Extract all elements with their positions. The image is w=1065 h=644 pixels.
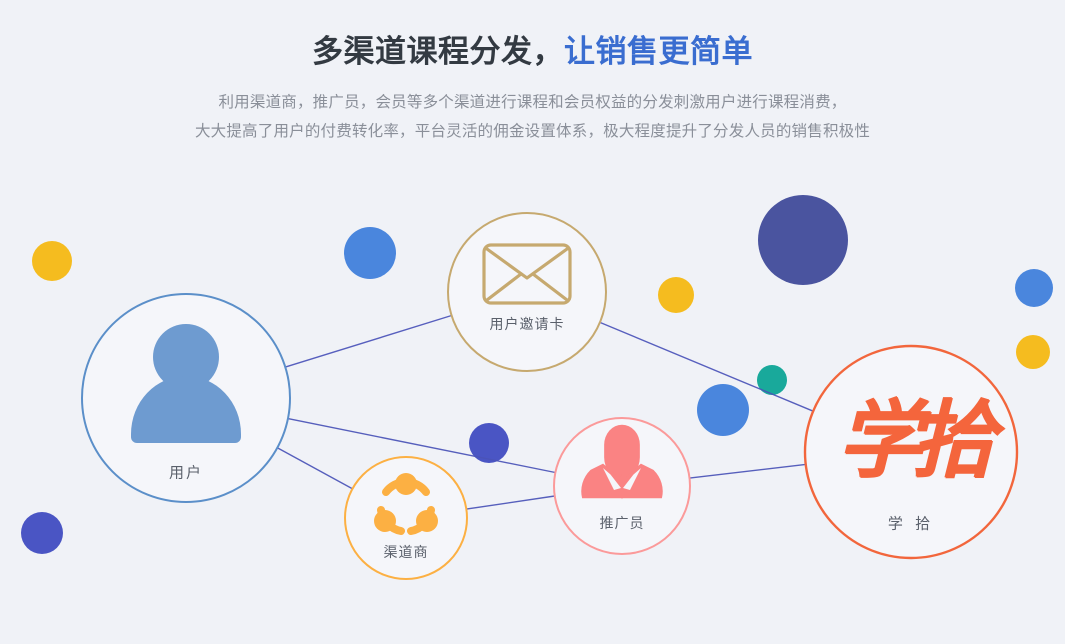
infographic-stage: 多渠道课程分发，让销售更简单 利用渠道商，推广员，会员等多个渠道进行课程和会员权…: [0, 0, 1065, 644]
connector-promoter-to-logo: [690, 464, 806, 478]
connector-user-to-channel: [277, 448, 352, 489]
node-channel-label: 渠道商: [384, 542, 429, 562]
xueshi-logo: 学拾: [837, 398, 985, 482]
dot-indigo-large-top: [758, 195, 848, 285]
dot-yellow-right: [1016, 335, 1050, 369]
node-promoter[interactable]: [554, 418, 690, 554]
node-invite-card-label: 用户邀请卡: [490, 314, 565, 334]
dot-blue-center: [697, 384, 749, 436]
connector-channel-to-promoter: [466, 496, 554, 509]
dot-yellow-left: [32, 241, 72, 281]
node-promoter-label: 推广员: [600, 513, 645, 533]
node-user-label: 用户: [169, 462, 203, 483]
connector-user-to-invite: [285, 316, 451, 368]
node-invite-card[interactable]: [448, 213, 606, 371]
node-invite-card-ring: [448, 213, 606, 371]
dot-yellow-mid: [658, 277, 694, 313]
dot-teal-center: [757, 365, 787, 395]
dot-indigo-bottom-left: [21, 512, 63, 554]
dot-blue-top-left: [344, 227, 396, 279]
dot-blue-right-upper: [1015, 269, 1053, 307]
node-logo-label: 学 拾: [888, 513, 934, 534]
